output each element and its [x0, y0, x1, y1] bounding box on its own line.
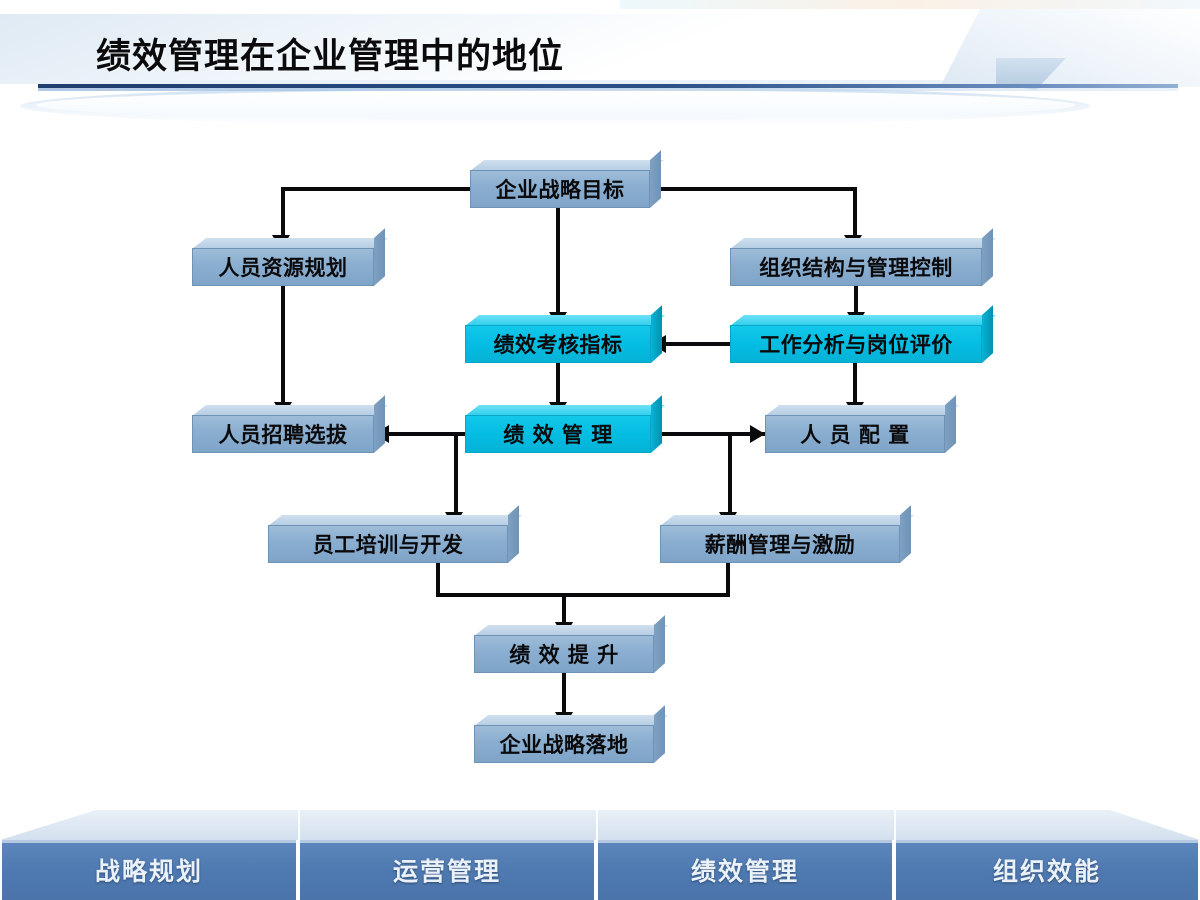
- header-rule-sheen: [38, 88, 1178, 91]
- node-side-face: [900, 505, 911, 563]
- flow-strategy-goal-to-hr-planning-h: [281, 187, 470, 191]
- node-label: 组织结构与管理控制: [759, 252, 953, 282]
- node-side-face: [651, 395, 662, 453]
- node-staffing[interactable]: 人 员 配 置: [765, 405, 945, 463]
- flow-strategy-goal-to-hr-planning-v: [281, 187, 285, 236]
- header-ellipse-inner: [36, 90, 1076, 120]
- flow-recruitment-to-training-h: [374, 432, 458, 436]
- slide-root: 绩效管理在企业管理中的地位 企业战略目标人员资源规划组织结构与管理控制绩效考核指…: [0, 0, 1200, 900]
- footer-segment-highlight: [598, 840, 892, 843]
- footer-segment-highlight: [2, 840, 296, 843]
- node-label: 企业战略落地: [500, 729, 629, 759]
- node-label: 员工培训与开发: [313, 529, 464, 559]
- node-front-face: 人员资源规划: [192, 248, 374, 286]
- flow-compensation-to-perf-improve-drop: [562, 593, 566, 623]
- node-side-face: [654, 705, 665, 763]
- node-front-face: 绩 效 管 理: [465, 415, 651, 453]
- node-front-face: 薪酬管理与激励: [660, 525, 900, 563]
- node-strategy-goal[interactable]: 企业战略目标: [470, 160, 650, 218]
- node-label: 绩效考核指标: [494, 329, 623, 359]
- flow-strategy-goal-to-org-structure-v: [853, 187, 857, 236]
- node-front-face: 人 员 配 置: [765, 415, 945, 453]
- node-side-face: [650, 150, 661, 208]
- slide-header: 绩效管理在企业管理中的地位: [0, 0, 1200, 120]
- footer-segment-3[interactable]: 绩效管理: [596, 840, 894, 900]
- footer-segment-2[interactable]: 运营管理: [298, 840, 596, 900]
- footer-segment-label: 运营管理: [393, 852, 501, 888]
- footer-top-face: [0, 810, 1200, 840]
- footer-segment-highlight: [300, 840, 594, 843]
- node-kpi[interactable]: 绩效考核指标: [465, 315, 651, 373]
- footer-segment-highlight: [896, 840, 1198, 843]
- node-front-face: 绩效考核指标: [465, 325, 651, 363]
- node-side-face: [374, 395, 385, 453]
- flow-strategy-goal-to-org-structure-h: [650, 187, 857, 191]
- node-training[interactable]: 员工培训与开发: [268, 515, 508, 573]
- node-hr-planning[interactable]: 人员资源规划: [192, 238, 374, 296]
- flow-compensation-to-perf-improve-h: [562, 593, 730, 597]
- node-label: 人员资源规划: [219, 252, 348, 282]
- node-recruitment[interactable]: 人员招聘选拔: [192, 405, 374, 463]
- header-fold-right-shape: [940, 9, 1200, 87]
- footer-segment-4[interactable]: 组织效能: [894, 840, 1200, 900]
- node-front-face: 企业战略目标: [470, 170, 650, 208]
- node-label: 绩 效 管 理: [503, 419, 612, 449]
- node-job-analysis[interactable]: 工作分析与岗位评价: [730, 315, 982, 373]
- flow-staffing-to-compensation-h: [728, 432, 765, 436]
- footer-top-ridge-1: [298, 810, 300, 840]
- node-label: 企业战略目标: [496, 174, 625, 204]
- node-label: 人 员 配 置: [800, 419, 909, 449]
- node-compensation[interactable]: 薪酬管理与激励: [660, 515, 900, 573]
- footer-segment-label: 绩效管理: [691, 852, 799, 888]
- node-label: 人员招聘选拔: [219, 419, 348, 449]
- flow-staffing-to-compensation-v: [728, 432, 732, 513]
- header-top-strip: [620, 0, 1200, 9]
- node-side-face: [651, 305, 662, 363]
- flow-diagram: 企业战略目标人员资源规划组织结构与管理控制绩效考核指标工作分析与岗位评价人员招聘…: [0, 120, 1200, 810]
- node-front-face: 工作分析与岗位评价: [730, 325, 982, 363]
- node-front-face: 企业战略落地: [474, 725, 654, 763]
- node-side-face: [982, 305, 993, 363]
- node-front-face: 人员招聘选拔: [192, 415, 374, 453]
- node-side-face: [508, 505, 519, 563]
- node-perf-improve[interactable]: 绩 效 提 升: [474, 625, 654, 683]
- footer-segment-label: 战略规划: [95, 852, 203, 888]
- footer-banner: 战略规划运营管理绩效管理组织效能: [0, 810, 1200, 900]
- node-strategy-landing[interactable]: 企业战略落地: [474, 715, 654, 773]
- footer-segment-label: 组织效能: [993, 852, 1101, 888]
- flow-hr-planning-to-recruitment: [281, 286, 285, 403]
- node-label: 工作分析与岗位评价: [759, 329, 953, 359]
- node-side-face: [374, 228, 385, 286]
- page-title: 绩效管理在企业管理中的地位: [96, 28, 564, 79]
- node-front-face: 员工培训与开发: [268, 525, 508, 563]
- flow-strategy-goal-to-kpi: [556, 208, 560, 313]
- node-perf-management[interactable]: 绩 效 管 理: [465, 405, 651, 463]
- node-front-face: 绩 效 提 升: [474, 635, 654, 673]
- node-org-structure[interactable]: 组织结构与管理控制: [730, 238, 982, 296]
- node-label: 绩 效 提 升: [509, 639, 618, 669]
- node-label: 薪酬管理与激励: [705, 529, 856, 559]
- footer-top-ridge-2: [596, 810, 598, 840]
- footer-top-ridge-3: [894, 810, 896, 840]
- node-side-face: [945, 395, 956, 453]
- node-front-face: 组织结构与管理控制: [730, 248, 982, 286]
- flow-recruitment-to-training-v: [454, 432, 458, 513]
- node-side-face: [654, 615, 665, 673]
- footer-segment-1[interactable]: 战略规划: [0, 840, 298, 900]
- flow-job-analysis-to-kpi: [665, 342, 730, 346]
- flow-training-to-perf-improve-h: [436, 593, 566, 597]
- node-side-face: [982, 228, 993, 286]
